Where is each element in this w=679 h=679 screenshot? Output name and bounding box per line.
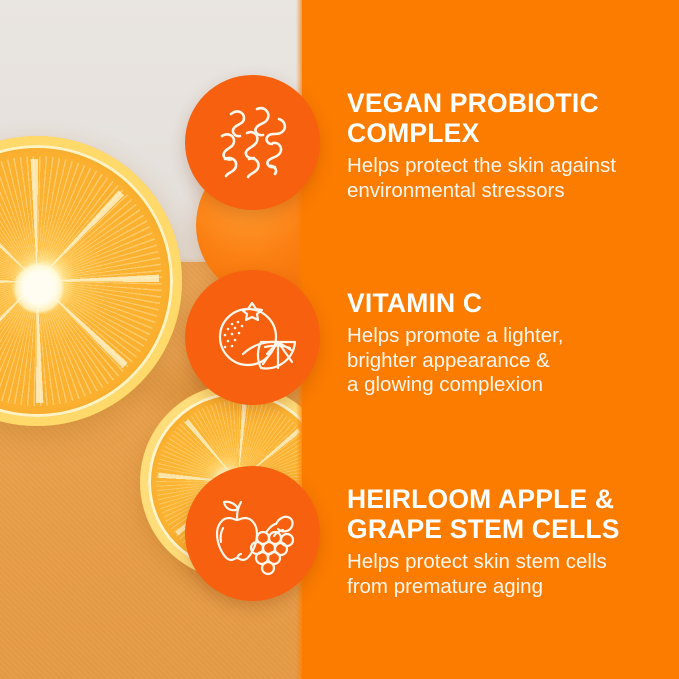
- probiotic-title: VEGAN PROBIOTIC COMPLEX: [347, 88, 667, 148]
- stem-cells-title-line-2: GRAPE STEM CELLS: [347, 514, 620, 544]
- probiotic-desc-line-2: environmental stressors: [347, 179, 667, 203]
- probiotic-bacteria-icon: [205, 95, 301, 191]
- probiotic-title-line-2: COMPLEX: [347, 118, 479, 148]
- probiotic-copy: VEGAN PROBIOTIC COMPLEX Helps protect th…: [347, 88, 667, 203]
- stem-cells-copy: HEIRLOOM APPLE & GRAPE STEM CELLS Helps …: [347, 484, 667, 599]
- stem-cells-title-line-1: HEIRLOOM APPLE &: [347, 484, 614, 514]
- stem-cells-desc-line-2: from premature aging: [347, 575, 667, 599]
- apple-grape-icon: [205, 486, 301, 582]
- vitamin-c-desc-line-2: brighter appearance &: [347, 349, 667, 373]
- probiotic-description: Helps protect the skin against environme…: [347, 154, 667, 203]
- vitamin-c-copy: VITAMIN C Helps promote a lighter, brigh…: [347, 288, 667, 397]
- vitamin-c-desc-line-3: a glowing complexion: [347, 373, 667, 397]
- vitamin-c-desc-line-1: Helps promote a lighter,: [347, 324, 667, 348]
- vitamin-c-badge: [185, 270, 320, 405]
- vitamin-c-description: Helps promote a lighter, brighter appear…: [347, 324, 667, 397]
- stem-cells-title: HEIRLOOM APPLE & GRAPE STEM CELLS: [347, 484, 667, 544]
- vitamin-c-title: VITAMIN C: [347, 288, 667, 318]
- vitamin-c-title-line-1: VITAMIN C: [347, 288, 482, 318]
- stem-cells-description: Helps protect skin stem cells from prema…: [347, 550, 667, 599]
- stem-cells-desc-line-1: Helps protect skin stem cells: [347, 550, 667, 574]
- probiotic-title-line-1: VEGAN PROBIOTIC: [347, 88, 599, 118]
- orange-fruit-icon: [205, 290, 301, 386]
- product-benefits-graphic: VEGAN PROBIOTIC COMPLEX Helps protect th…: [0, 0, 679, 679]
- probiotic-badge: [185, 75, 320, 210]
- stem-cells-badge: [185, 466, 320, 601]
- probiotic-desc-line-1: Helps protect the skin against: [347, 154, 667, 178]
